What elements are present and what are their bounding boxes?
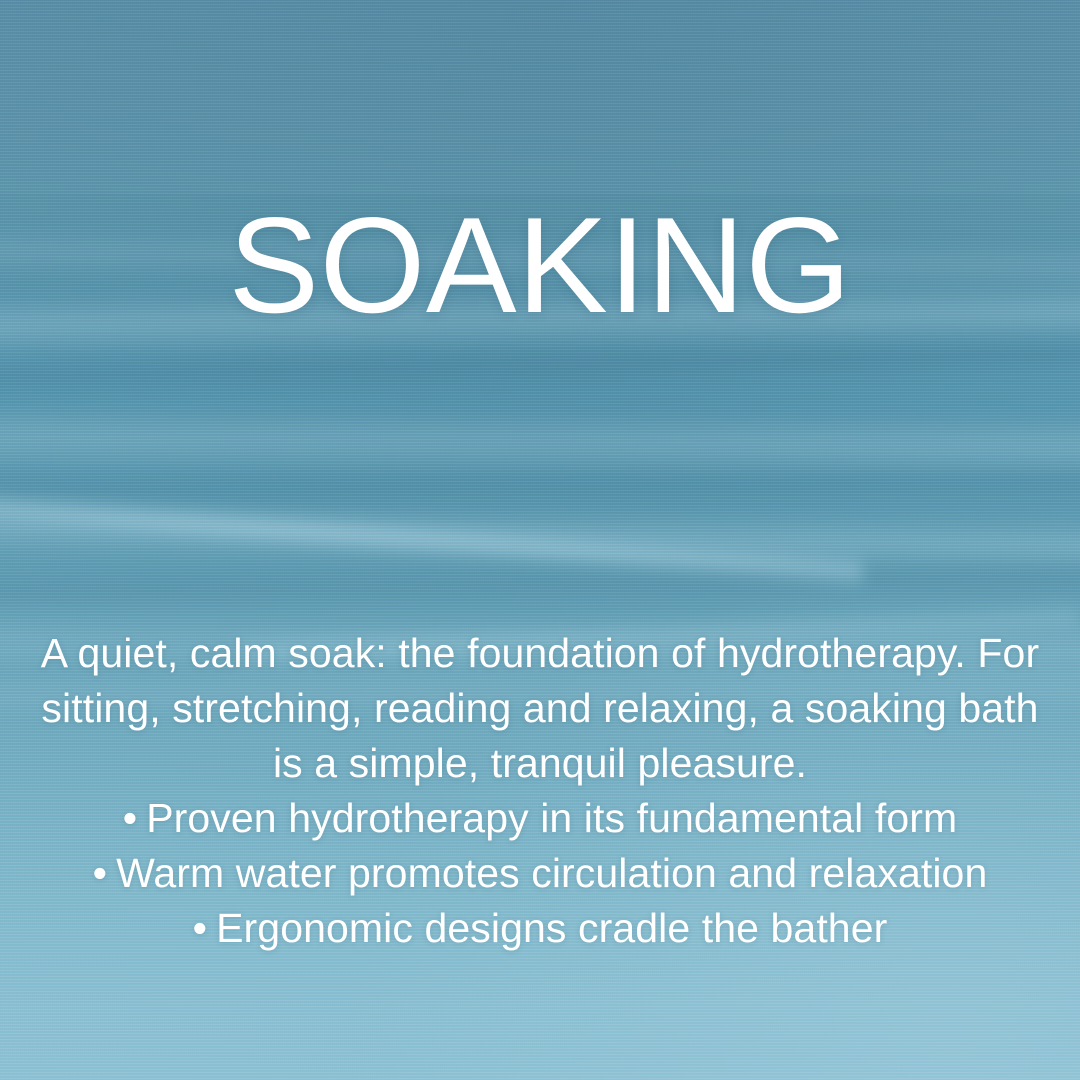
bullet-icon: • (123, 791, 137, 846)
card-content: SOAKING A quiet, calm soak: the foundati… (0, 0, 1080, 1080)
bullet-icon: • (93, 846, 107, 901)
description-paragraph: A quiet, calm soak: the foundation of hy… (40, 626, 1040, 791)
soaking-promo-card: SOAKING A quiet, calm soak: the foundati… (0, 0, 1080, 1080)
description-block: A quiet, calm soak: the foundation of hy… (40, 626, 1040, 956)
page-title: SOAKING (0, 197, 1080, 333)
list-item-label: Ergonomic designs cradle the bather (216, 905, 887, 951)
bullet-icon: • (193, 901, 207, 956)
feature-list: •Proven hydrotherapy in its fundamental … (40, 791, 1040, 956)
list-item: •Warm water promotes circulation and rel… (40, 846, 1040, 901)
list-item: •Ergonomic designs cradle the bather (40, 901, 1040, 956)
list-item: •Proven hydrotherapy in its fundamental … (40, 791, 1040, 846)
list-item-label: Proven hydrotherapy in its fundamental f… (146, 795, 957, 841)
list-item-label: Warm water promotes circulation and rela… (116, 850, 987, 896)
